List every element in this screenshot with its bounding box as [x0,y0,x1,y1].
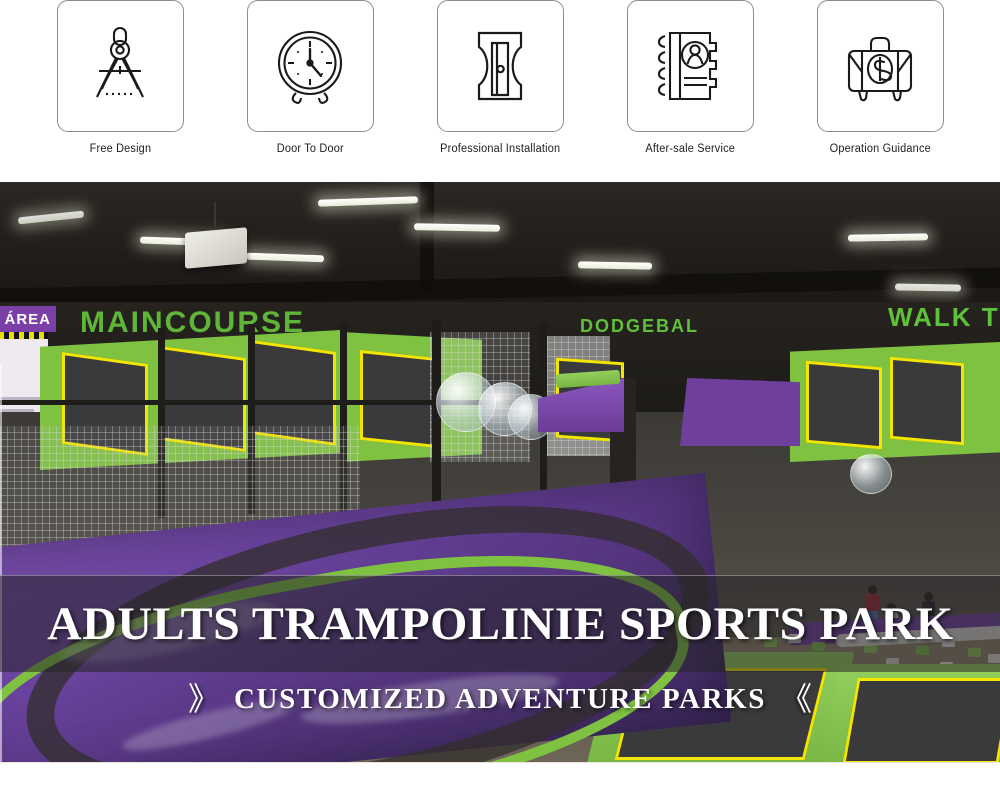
chevron-left-icon: 》 [188,683,220,715]
alarm-clock-icon [270,25,350,107]
feature-label: After-sale Service [645,143,735,155]
projector-rod [214,202,216,232]
feature-card [437,0,564,132]
purple-wall-pad [680,378,800,446]
wall-trampoline-bed [890,357,964,445]
ceiling-lamp [895,283,961,291]
money-briefcase-icon [840,26,920,106]
dodgeball-signage: DODGEBAL [580,316,699,337]
area-sign: ÁREA [0,306,56,332]
wall-trampoline-bed [360,350,438,448]
page-title: ADULTS TRAMPOLINIE SPORTS PARK [47,597,953,651]
subtitle-row: 》 CUSTOMIZED ADVENTURE PARKS 》 [0,671,1000,727]
feature-item-door-to-door[interactable]: Door To Door [245,0,375,155]
pencil-sharpener-icon [464,25,536,107]
feature-label: Operation Guidance [829,143,930,155]
contact-book-icon [652,24,728,108]
feature-label: Free Design [89,143,151,155]
feature-item-free-design[interactable]: Free Design [55,0,185,155]
feature-item-professional-installation[interactable]: Professional Installation [435,0,565,155]
chevron-right-icon: 》 [780,683,812,715]
bottom-strip [0,762,1000,796]
feature-strip: Free Design [0,0,1000,182]
feature-item-operation-guidance[interactable]: Operation Guidance [815,0,945,155]
feature-item-after-sale-service[interactable]: After-sale Service [625,0,755,155]
area-sign-text: ÁREA [4,311,51,328]
feature-label: Door To Door [276,143,343,155]
feature-card [247,0,374,132]
ceiling-lamp [848,233,928,241]
promo-page: Free Design [0,0,1000,796]
walk-signage: WALK T [888,302,1000,333]
page-subtitle: CUSTOMIZED ADVENTURE PARKS [234,683,766,716]
compass-icon [83,23,157,109]
wall-trampoline-bed [806,361,882,450]
zorb-ball [850,454,892,494]
feature-card [627,0,754,132]
title-banner: ADULTS TRAMPOLINIE SPORTS PARK [0,575,1000,672]
feature-card [57,0,184,132]
feature-card [817,0,944,132]
projector [185,227,247,268]
frame-post [432,320,441,520]
feature-label: Professional Installation [440,143,560,155]
ceiling-beam [420,182,434,292]
ceiling-lamp [414,223,500,231]
hazard-stripe [0,332,48,339]
hero-photo: ÁREA MAINCOURSE DODGEBAL WALK T [0,182,1000,762]
ceiling-lamp [578,261,652,269]
